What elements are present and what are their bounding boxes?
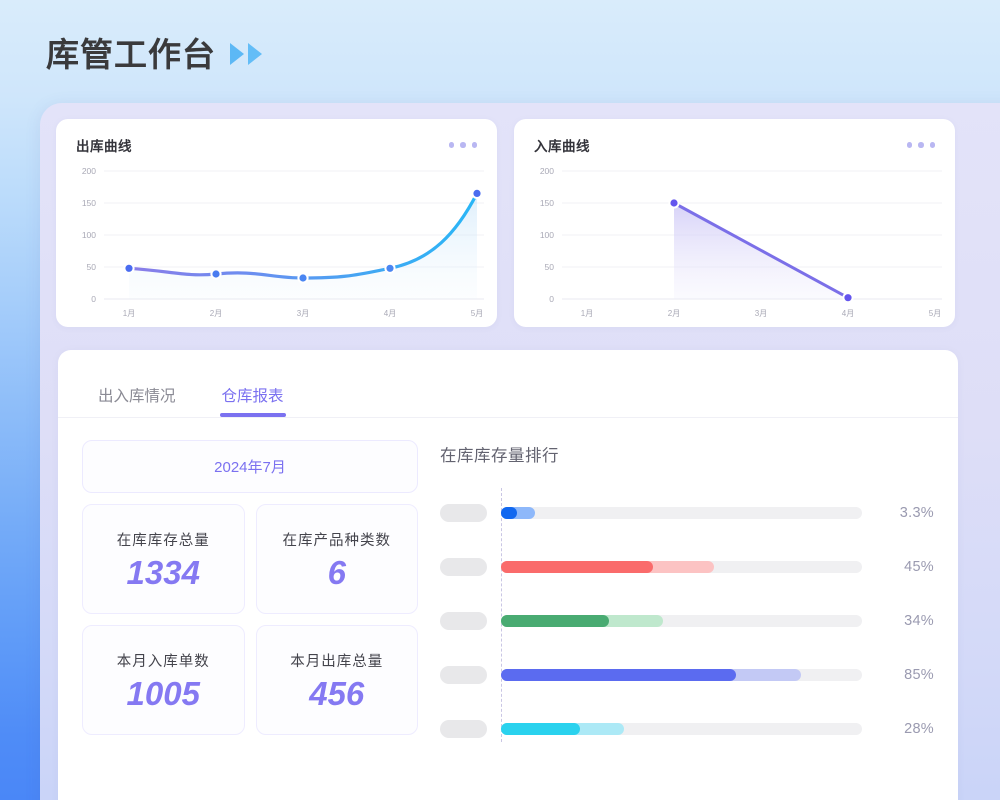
svg-text:150: 150 <box>540 198 554 208</box>
ranking-percent: 34% <box>876 613 934 629</box>
report-card: 出入库情况 仓库报表 2024年7月 在库库存总量 1334 在库产品种类数 6 <box>58 350 958 800</box>
period-selector[interactable]: 2024年7月 <box>82 440 418 493</box>
ranking-bar-track <box>501 561 862 573</box>
stat-card-inbound-orders[interactable]: 本月入库单数 1005 <box>82 625 245 735</box>
stat-label: 在库产品种类数 <box>283 529 392 550</box>
ranking-list: 3.3% 45% <box>440 486 934 756</box>
page-title: 库管工作台 <box>46 28 216 76</box>
ranking-bar-dark <box>501 615 609 627</box>
ranking-percent: 45% <box>876 559 934 575</box>
outbound-chart-card: 出库曲线 <box>56 119 497 327</box>
report-body: 2024年7月 在库库存总量 1334 在库产品种类数 6 本月入库单数 100… <box>58 418 958 756</box>
svg-text:5月: 5月 <box>929 309 941 318</box>
stat-card-product-types[interactable]: 在库产品种类数 6 <box>256 504 419 614</box>
stat-value: 1005 <box>127 677 200 710</box>
ranking-percent: 28% <box>876 721 934 737</box>
ranking-row[interactable]: 34% <box>440 594 934 648</box>
ranking-bar-dark <box>501 561 653 573</box>
svg-text:5月: 5月 <box>471 309 483 318</box>
ranking-percent: 3.3% <box>876 505 934 521</box>
inbound-line-chart: 200 150 100 50 0 1月 2月 3月 4月 5月 <box>514 159 955 327</box>
svg-text:3月: 3月 <box>297 309 309 318</box>
page-header: 库管工作台 <box>46 28 262 76</box>
ranking-bar-track <box>501 507 862 519</box>
svg-text:150: 150 <box>82 198 96 208</box>
svg-text:100: 100 <box>82 230 96 240</box>
svg-text:50: 50 <box>87 262 97 272</box>
double-chevron-right-icon <box>230 43 262 65</box>
more-dots-icon[interactable] <box>907 142 936 148</box>
inbound-chart-header: 入库曲线 <box>514 119 955 155</box>
ranking-row[interactable]: 85% <box>440 648 934 702</box>
stat-label: 本月出库总量 <box>290 650 383 671</box>
svg-text:50: 50 <box>545 262 555 272</box>
svg-text:100: 100 <box>540 230 554 240</box>
stat-grid: 在库库存总量 1334 在库产品种类数 6 本月入库单数 1005 本月出库总量… <box>82 504 418 735</box>
svg-text:1月: 1月 <box>123 309 135 318</box>
stat-label: 本月入库单数 <box>117 650 210 671</box>
outbound-chart-header: 出库曲线 <box>56 119 497 155</box>
ranking-bar-track <box>501 723 862 735</box>
tab-warehouse-report[interactable]: 仓库报表 <box>222 384 284 417</box>
ranking-label-placeholder <box>440 558 487 576</box>
svg-text:2月: 2月 <box>210 309 222 318</box>
ranking-bar-dark <box>501 669 736 681</box>
ranking-title: 在库库存量排行 <box>440 442 934 466</box>
tab-inout-status[interactable]: 出入库情况 <box>98 384 176 417</box>
outbound-chart-title: 出库曲线 <box>76 135 132 155</box>
ranking-label-placeholder <box>440 720 487 738</box>
svg-text:2月: 2月 <box>668 309 680 318</box>
ranking-label-placeholder <box>440 504 487 522</box>
ranking-row[interactable]: 45% <box>440 540 934 594</box>
svg-text:4月: 4月 <box>384 309 396 318</box>
stat-card-total-stock[interactable]: 在库库存总量 1334 <box>82 504 245 614</box>
ranking-label-placeholder <box>440 666 487 684</box>
ranking-column: 在库库存量排行 3.3% <box>440 440 934 756</box>
ranking-bar-track <box>501 615 862 627</box>
ranking-percent: 85% <box>876 667 934 683</box>
ranking-bar-track <box>501 669 862 681</box>
inbound-chart-card: 入库曲线 200 150 100 <box>514 119 955 327</box>
stat-value: 1334 <box>127 556 200 589</box>
ranking-row[interactable]: 28% <box>440 702 934 756</box>
main-panel: 出库曲线 <box>40 103 1000 800</box>
svg-text:4月: 4月 <box>842 309 854 318</box>
stat-card-outbound-total[interactable]: 本月出库总量 456 <box>256 625 419 735</box>
svg-text:200: 200 <box>540 166 554 176</box>
svg-text:1月: 1月 <box>581 309 593 318</box>
more-dots-icon[interactable] <box>449 142 478 148</box>
charts-row: 出库曲线 <box>56 119 955 327</box>
inbound-chart-title: 入库曲线 <box>534 135 590 155</box>
report-tabs: 出入库情况 仓库报表 <box>58 350 958 418</box>
ranking-label-placeholder <box>440 612 487 630</box>
outbound-line-chart: 200 150 100 50 0 1月 2月 3月 4月 5月 <box>56 159 497 327</box>
svg-text:0: 0 <box>91 294 96 304</box>
svg-text:3月: 3月 <box>755 309 767 318</box>
svg-text:200: 200 <box>82 166 96 176</box>
svg-text:0: 0 <box>549 294 554 304</box>
stats-column: 2024年7月 在库库存总量 1334 在库产品种类数 6 本月入库单数 100… <box>82 440 418 756</box>
stat-value: 6 <box>328 556 346 589</box>
ranking-row[interactable]: 3.3% <box>440 486 934 540</box>
stat-label: 在库库存总量 <box>117 529 210 550</box>
stat-value: 456 <box>309 677 364 710</box>
ranking-bar-dark <box>501 723 580 735</box>
ranking-bar-dark <box>501 507 517 519</box>
